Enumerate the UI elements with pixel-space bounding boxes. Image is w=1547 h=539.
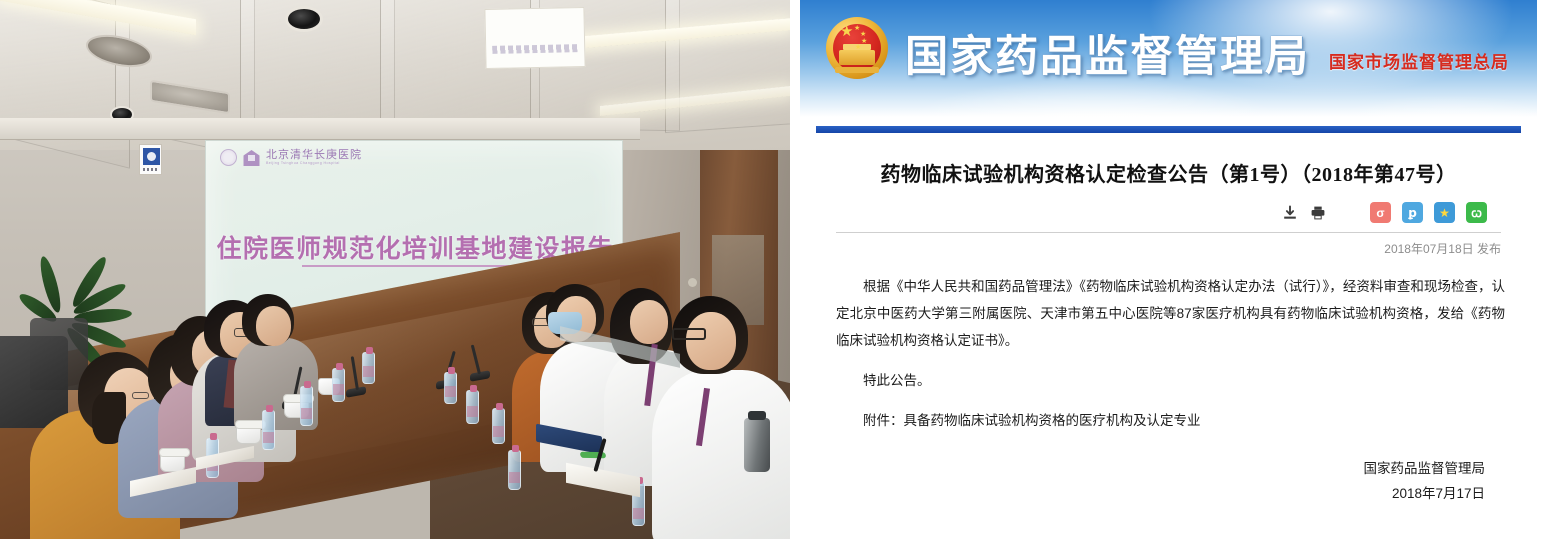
photo-frame: 北京清华长庚医院 Beijing Tsinghua Changgung Hosp… xyxy=(0,0,790,539)
hospital-logo: 北京清华长庚医院 Beijing Tsinghua Changgung Hosp… xyxy=(220,149,362,166)
site-parent-org-title: 国家市场监督管理总局 xyxy=(1329,48,1509,73)
wall-sign-caption xyxy=(143,168,158,171)
ceiling-paper-sign xyxy=(484,7,585,69)
water-bottle xyxy=(444,372,457,404)
qzone-share-icon[interactable]: ꝑ xyxy=(1402,202,1423,223)
water-bottle xyxy=(332,368,345,402)
emblem-star-icon: ★ xyxy=(861,37,867,47)
tea-cup xyxy=(236,424,261,444)
person-head xyxy=(686,312,736,370)
ceiling-soffit xyxy=(0,118,640,140)
wechat-share-icon[interactable]: ꞷ xyxy=(1466,202,1487,223)
signature-block: 国家药品监督管理局 2018年7月17日 xyxy=(790,456,1547,506)
announcement-document: ★ ★ ★ ★ ★ 国家药品监督管理局 国家市场监督管理总局 药物临床试验机构资… xyxy=(790,0,1547,539)
water-bottle xyxy=(508,450,521,490)
print-icon[interactable] xyxy=(1309,204,1326,221)
page-title: 药物临床试验机构资格认定检查公告（第1号）（2018年第47号） xyxy=(790,146,1547,190)
security-camera-icon xyxy=(285,6,323,32)
emblem-star-icon: ★ xyxy=(855,43,861,53)
water-bottle xyxy=(362,352,375,384)
paragraph-main: 根据《中华人民共和国药品管理法》《药物临床试验机构资格认定办法（试行）》，经资料… xyxy=(836,273,1505,354)
hospital-logo-text: 北京清华长庚医院 Beijing Tsinghua Changgung Hosp… xyxy=(266,149,362,166)
water-bottle xyxy=(262,410,275,450)
person-head xyxy=(256,306,291,346)
signature-org: 国家药品监督管理局 xyxy=(790,456,1485,481)
meeting-photo: 北京清华长庚医院 Beijing Tsinghua Changgung Hosp… xyxy=(0,0,790,539)
door-knob xyxy=(688,278,697,287)
water-bottle xyxy=(466,390,479,424)
emblem-star-icon: ★ xyxy=(840,27,853,37)
hospital-seal-icon xyxy=(220,149,237,166)
eyeglasses xyxy=(132,392,149,399)
favorite-share-icon[interactable]: ★ xyxy=(1434,202,1455,223)
hospital-logo-en: Beijing Tsinghua Changgung Hospital xyxy=(266,161,362,166)
download-icon[interactable] xyxy=(1281,204,1298,221)
publish-date: 2018年07月18日 发布 xyxy=(790,233,1547,257)
document-toolbar: σ ꝑ ★ ꞷ xyxy=(790,190,1547,223)
gov-site-header: ★ ★ ★ ★ ★ 国家药品监督管理局 国家市场监督管理总局 xyxy=(800,0,1537,117)
national-emblem-icon: ★ ★ ★ ★ ★ xyxy=(826,17,888,79)
weibo-share-icon[interactable]: σ xyxy=(1370,202,1391,223)
header-divider-bar xyxy=(816,126,1521,133)
document-body: 药物临床试验机构资格认定检查公告（第1号）（2018年第47号） xyxy=(790,146,1547,506)
page-root: 北京清华长庚医院 Beijing Tsinghua Changgung Hosp… xyxy=(0,0,1547,539)
paragraph-attachment: 附件：具备药物临床试验机构资格的医疗机构及认定专业 xyxy=(836,407,1505,434)
thermos-flask xyxy=(744,418,770,472)
water-bottle xyxy=(492,408,505,444)
person-head xyxy=(630,300,668,344)
paper-sign-text xyxy=(492,44,578,54)
hospital-crest-icon xyxy=(242,149,261,166)
site-title: 国家药品监督管理局 xyxy=(905,22,1310,84)
emblem-base xyxy=(835,67,879,73)
eyeglasses xyxy=(672,328,706,340)
wall-info-sign xyxy=(139,144,162,175)
hospital-logo-cn: 北京清华长庚医院 xyxy=(266,149,362,161)
paragraph-notice: 特此公告。 xyxy=(836,367,1505,394)
signature-date: 2018年7月17日 xyxy=(790,481,1485,506)
water-bottle xyxy=(300,386,313,426)
wall-sign-pictogram-icon xyxy=(143,148,160,165)
